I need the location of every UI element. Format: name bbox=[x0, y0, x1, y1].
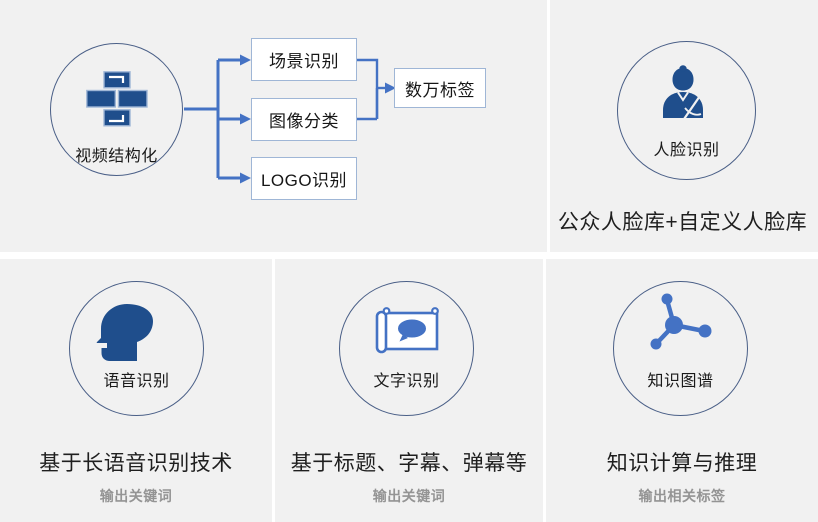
flow-box-tens-of-thousands-tags[interactable]: 数万标签 bbox=[394, 68, 486, 108]
knowledge-graph-icon bbox=[640, 288, 726, 360]
face-recognition-icon bbox=[652, 64, 714, 126]
divider-vertical-bottom-left bbox=[272, 259, 275, 522]
flow-box-image-classification[interactable]: 图像分类 bbox=[251, 98, 357, 141]
circle-label-face-recognition: 人脸识别 bbox=[617, 136, 756, 160]
subcaption-text-recognition: 输出关键词 bbox=[275, 486, 543, 506]
caption-text-recognition: 基于标题、字幕、弹幕等 bbox=[275, 447, 543, 477]
circle-label-video-structuring: 视频结构化 bbox=[50, 142, 183, 166]
text-banner-icon bbox=[373, 306, 443, 364]
subcaption-knowledge-graph: 输出相关标签 bbox=[546, 486, 818, 506]
caption-knowledge-graph: 知识计算与推理 bbox=[546, 447, 818, 477]
circle-label-text-recognition: 文字识别 bbox=[339, 367, 474, 391]
divider-horizontal bbox=[0, 252, 818, 259]
flow-box-scene-recognition[interactable]: 场景识别 bbox=[251, 38, 357, 81]
subcaption-speech-recognition: 输出关键词 bbox=[0, 486, 272, 506]
circle-label-knowledge-graph: 知识图谱 bbox=[613, 367, 748, 391]
caption-face-recognition: 公众人脸库+自定义人脸库 bbox=[547, 206, 818, 236]
capability-overview-board: 视频结构化 场景识别 图像分类 LOGO识别 数万标签 bbox=[0, 0, 818, 522]
divider-vertical-bottom-right bbox=[543, 259, 546, 522]
video-structuring-icon bbox=[86, 71, 148, 127]
flow-box-logo-recognition[interactable]: LOGO识别 bbox=[251, 157, 357, 200]
circle-label-speech-recognition: 语音识别 bbox=[69, 367, 204, 391]
caption-speech-recognition: 基于长语音识别技术 bbox=[0, 447, 272, 477]
speech-head-icon bbox=[96, 302, 170, 364]
